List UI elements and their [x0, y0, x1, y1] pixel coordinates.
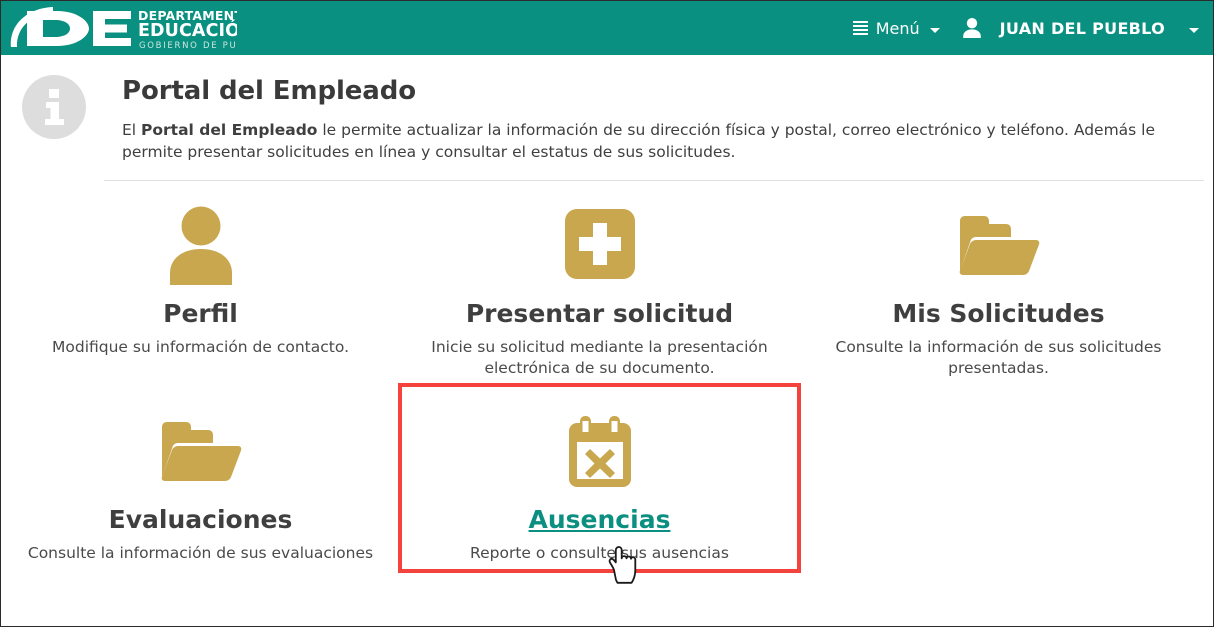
tile-title: Evaluaciones [19, 505, 382, 535]
tile-perfil[interactable]: Perfil Modifique su información de conta… [1, 181, 400, 386]
username-label[interactable]: JUAN DEL PUEBLO [994, 19, 1187, 38]
page-description: El Portal del Empleado le permite actual… [122, 119, 1193, 163]
tile-title[interactable]: Ausencias [418, 505, 781, 535]
user-icon [962, 17, 982, 39]
tile-description: Consulte la información de sus evaluacio… [23, 543, 378, 564]
folder-open-icon [160, 421, 242, 483]
tile-title: Mis Solicitudes [817, 299, 1180, 329]
info-icon [22, 75, 86, 139]
svg-text:GOBIERNO DE PUERTO RICO: GOBIERNO DE PUERTO RICO [139, 41, 237, 51]
de-logo[interactable]: DEPARTAMENTO DE EDUCACIÓN GOBIERNO DE PU… [1, 1, 237, 55]
hamburger-icon [853, 21, 868, 35]
tile-presentar-solicitud[interactable]: Presentar solicitud Inicie su solicitud … [400, 181, 799, 386]
tile-description: Reporte o consulte sus ausencias [422, 543, 777, 564]
info-glyph [41, 87, 67, 127]
svg-text:EDUCACIÓN: EDUCACIÓN [138, 19, 237, 41]
intro-section: Portal del Empleado El Portal del Emplea… [1, 55, 1213, 163]
menu-button[interactable]: Menú [843, 1, 950, 55]
tile-icon-wrap [817, 203, 1180, 289]
folder-open-icon [958, 215, 1040, 277]
tile-evaluaciones[interactable]: Evaluaciones Consulte la información de … [1, 385, 400, 570]
header-nav: Menú JUAN DEL PUEBLO [843, 1, 1213, 55]
page-title: Portal del Empleado [122, 75, 1193, 108]
menu-label: Menú [876, 19, 920, 38]
desc-bold: Portal del Empleado [141, 121, 317, 139]
tile-ausencias[interactable]: Ausencias Reporte o consulte sus ausenci… [400, 385, 799, 570]
chevron-down-icon [930, 28, 940, 33]
tile-description: Consulte la información de sus solicitud… [821, 337, 1176, 380]
user-account-button[interactable] [950, 1, 994, 55]
tile-mis-solicitudes[interactable]: Mis Solicitudes Consulte la información … [799, 181, 1198, 386]
chevron-down-icon [1189, 28, 1199, 33]
plus-square-icon [562, 207, 638, 285]
tile-icon-wrap [19, 409, 382, 495]
top-header-bar: DEPARTAMENTO DE EDUCACIÓN GOBIERNO DE PU… [1, 1, 1213, 55]
calendar-x-icon [567, 415, 633, 489]
intro-text-block: Portal del Empleado El Portal del Emplea… [86, 69, 1203, 163]
tile-icon-wrap [19, 203, 382, 289]
tile-description: Modifique su información de contacto. [23, 337, 378, 358]
person-icon [164, 205, 238, 287]
de-logo-graphic: DEPARTAMENTO DE EDUCACIÓN GOBIERNO DE PU… [5, 1, 237, 55]
user-menu-toggle[interactable] [1187, 1, 1207, 55]
tile-title: Presentar solicitud [418, 299, 781, 329]
desc-part-1: El [122, 121, 141, 139]
portal-del-empleado-page: DEPARTAMENTO DE EDUCACIÓN GOBIERNO DE PU… [0, 0, 1214, 627]
portal-tile-grid: Perfil Modifique su información de conta… [1, 181, 1213, 571]
tile-description: Inicie su solicitud mediante la presenta… [422, 337, 777, 380]
tile-icon-wrap [418, 409, 781, 495]
tile-title: Perfil [19, 299, 382, 329]
tile-icon-wrap [418, 203, 781, 289]
